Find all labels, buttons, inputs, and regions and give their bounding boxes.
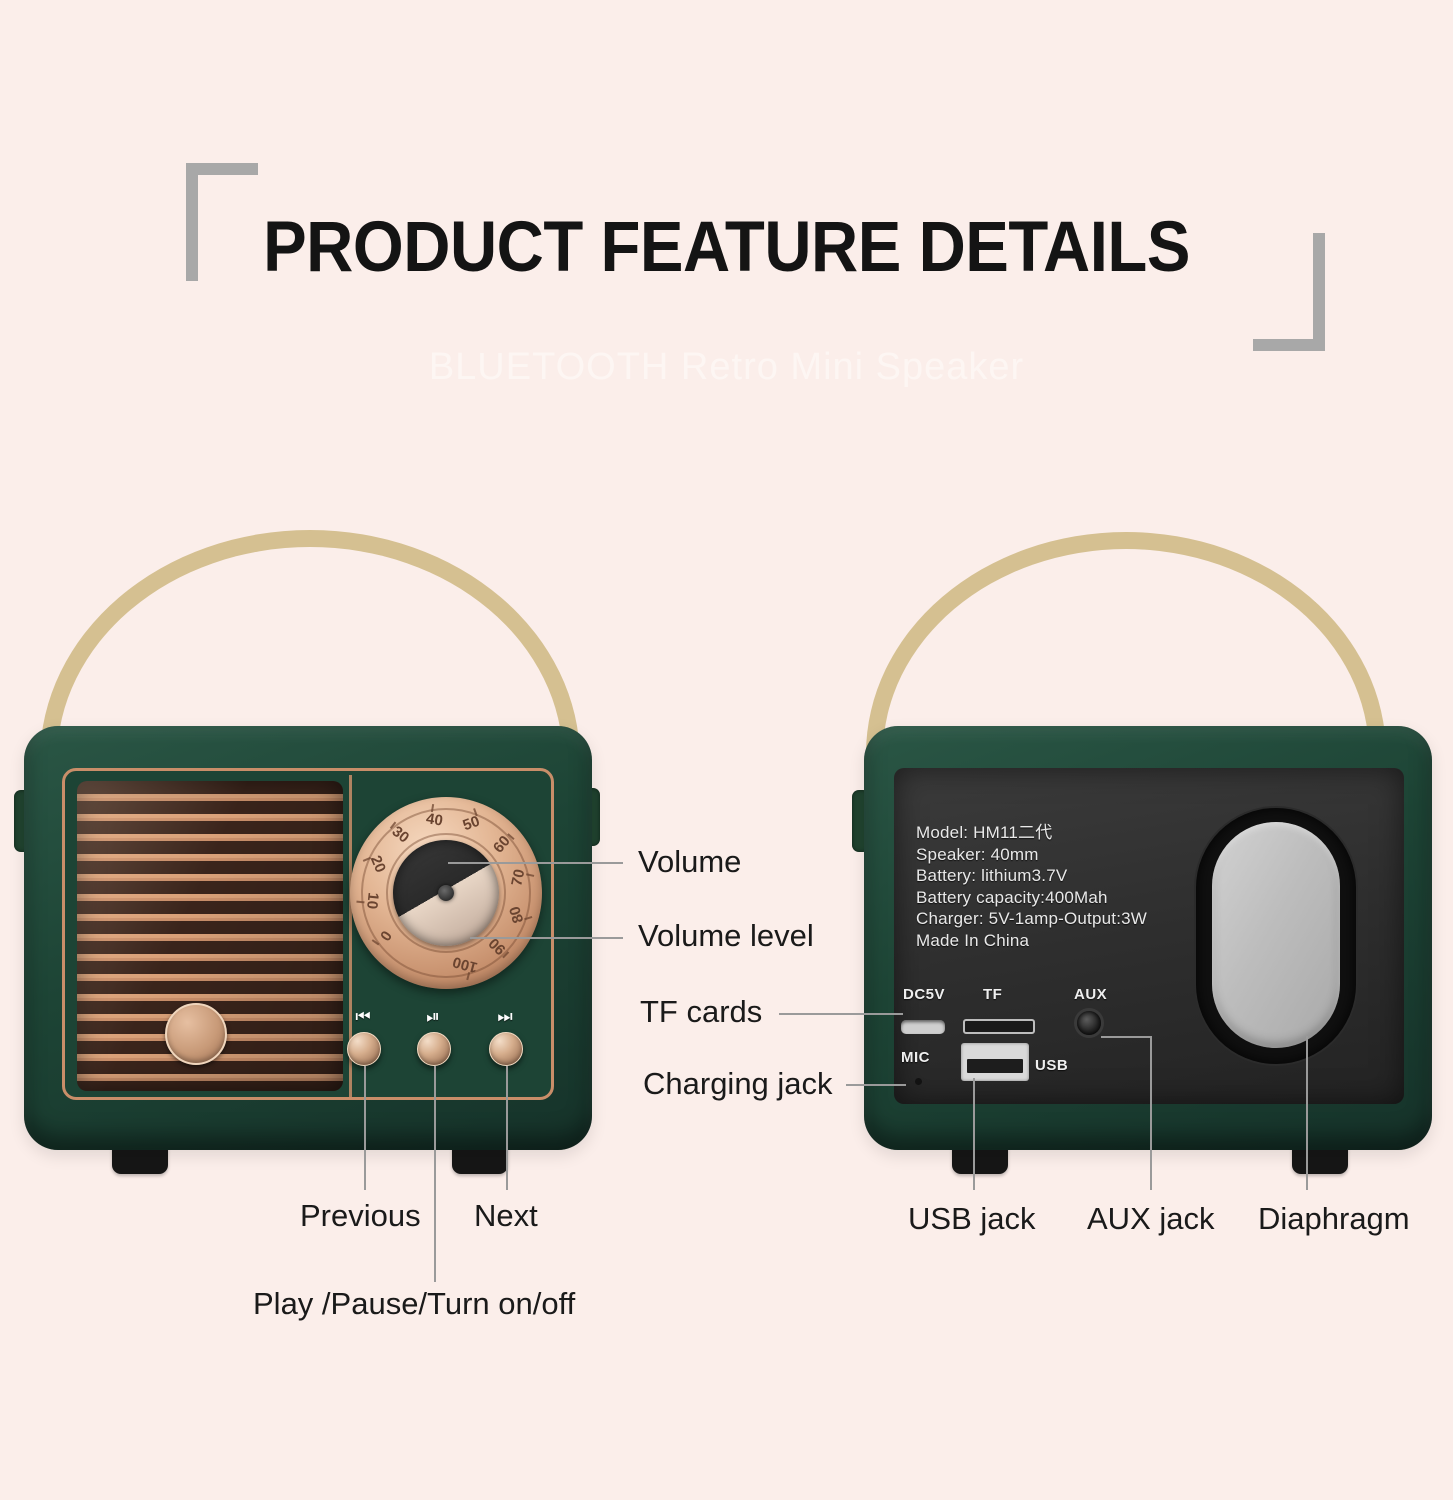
spec-line: Model: HM11二代 — [916, 822, 1147, 844]
play-pause-icon: ⏯ — [411, 1008, 455, 1025]
leader-play-pause — [434, 1066, 436, 1282]
leader-aux-jack — [1150, 1036, 1152, 1190]
next-button[interactable] — [489, 1032, 523, 1066]
spec-line: Charger: 5V-1amp-Output:3W — [916, 908, 1147, 930]
usb-label: USB — [1035, 1057, 1068, 1074]
callout-charging-jack: Charging jack — [643, 1068, 833, 1099]
callout-volume-level: Volume level — [638, 920, 814, 951]
callout-diaphragm: Diaphragm — [1258, 1203, 1410, 1234]
callout-aux-jack: AUX jack — [1087, 1203, 1214, 1234]
spec-line: Made In China — [916, 930, 1147, 952]
grille-knob[interactable] — [165, 1003, 227, 1065]
aux-label: AUX — [1074, 986, 1107, 1003]
page-subtitle: BLUETOOTH Retro Mini Speaker — [0, 348, 1453, 386]
leader-usb-jack — [973, 1078, 975, 1190]
leader-volume — [448, 862, 623, 864]
diaphragm — [1212, 822, 1340, 1048]
callout-previous: Previous — [300, 1200, 421, 1231]
page-title: PRODUCT FEATURE DETAILS — [58, 212, 1395, 283]
dc5v-label: DC5V — [903, 986, 945, 1003]
dial-tick-label: 10 — [363, 892, 382, 910]
callout-play-pause: Play /Pause/Turn on/off — [253, 1288, 575, 1319]
dial-center-pin — [438, 885, 454, 901]
dc5v-port[interactable] — [901, 1020, 945, 1034]
callout-usb-jack: USB jack — [908, 1203, 1035, 1234]
spec-line: Speaker: 40mm — [916, 844, 1147, 866]
leader-aux-elbow — [1101, 1036, 1151, 1038]
tf-card-slot[interactable] — [963, 1019, 1035, 1034]
leader-next — [506, 1066, 508, 1190]
aux-jack-port[interactable] — [1077, 1011, 1101, 1035]
play-pause-button[interactable] — [417, 1032, 451, 1066]
callout-tf-cards: TF cards — [640, 996, 762, 1027]
leader-diaphragm — [1306, 1036, 1308, 1190]
spec-label: Model: HM11二代Speaker: 40mmBattery: lithi… — [916, 822, 1147, 951]
mic-hole — [915, 1078, 922, 1085]
volume-dial[interactable]: 0102030405060708090100 — [350, 797, 542, 989]
previous-button[interactable] — [347, 1032, 381, 1066]
leader-volume-level — [470, 937, 623, 939]
leader-tf-cards — [779, 1013, 903, 1015]
leader-previous — [364, 1066, 366, 1190]
skip-previous-icon: ⏮ — [341, 1008, 385, 1025]
spec-line: Battery: lithium3.7V — [916, 865, 1147, 887]
callout-next: Next — [474, 1200, 538, 1231]
usb-port-tongue — [967, 1059, 1023, 1073]
tf-label: TF — [983, 986, 1002, 1003]
spec-line: Battery capacity:400Mah — [916, 887, 1147, 909]
callout-volume: Volume — [638, 846, 741, 877]
usb-port[interactable] — [961, 1043, 1029, 1081]
skip-next-icon: ⏭ — [483, 1008, 527, 1025]
poster-canvas: PRODUCT FEATURE DETAILS BLUETOOTH Retro … — [0, 0, 1453, 1500]
mic-label: MIC — [901, 1049, 930, 1066]
leader-charging-jack — [846, 1084, 906, 1086]
carry-handle-back — [866, 532, 1386, 754]
dial-tick-label: 40 — [425, 810, 444, 829]
dial-tick-label: 70 — [508, 868, 528, 888]
